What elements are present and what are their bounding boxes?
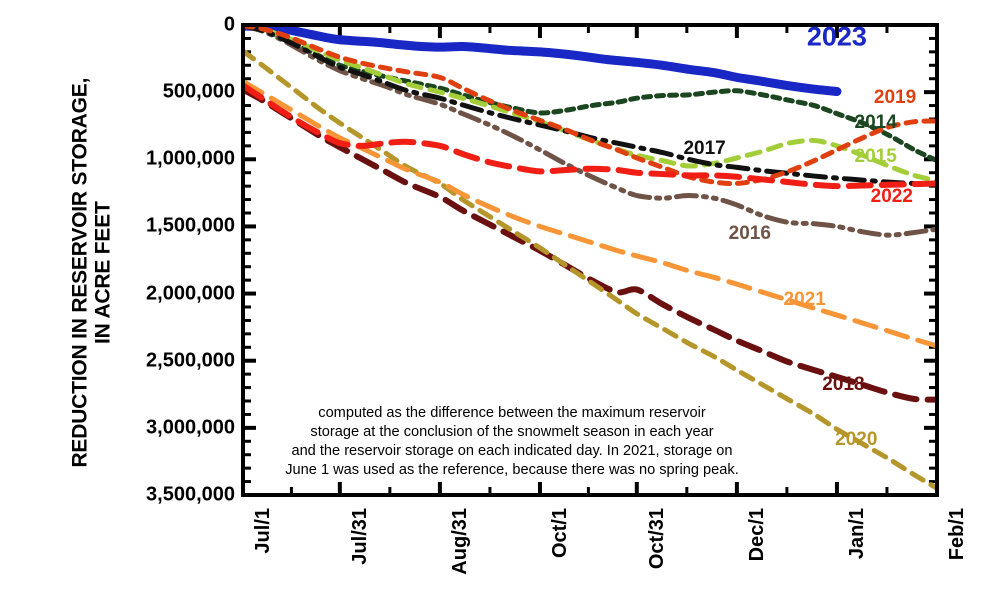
annotation-line: storage at the conclusion of the snowmel…	[262, 423, 762, 442]
chart-annotation: computed as the difference between the m…	[262, 404, 762, 480]
x-tick-label: Oct/31	[646, 508, 669, 569]
series-label-2019: 2019	[874, 87, 916, 109]
x-tick-label: Dec/1	[746, 508, 769, 561]
annotation-line: June 1 was used as the reference, becaus…	[262, 461, 762, 480]
x-axis-tick-labels: Jul/1Jul/31Aug/31Oct/1Oct/31Dec/1Jan/1Fe…	[0, 508, 985, 600]
series-label-2016: 2016	[729, 223, 771, 245]
series-label-2020: 2020	[835, 429, 877, 451]
x-tick-label: Aug/31	[449, 508, 472, 575]
x-tick-label: Jan/1	[846, 508, 869, 559]
series-label-2018: 2018	[822, 374, 864, 396]
series-label-2015: 2015	[855, 146, 897, 168]
series-line-2021	[243, 81, 937, 346]
series-label-2017: 2017	[683, 138, 725, 160]
x-tick-label: Feb/1	[946, 508, 969, 560]
annotation-line: and the reservoir storage on each indica…	[262, 442, 762, 461]
x-tick-label: Oct/1	[549, 508, 572, 558]
series-label-2014: 2014	[855, 112, 897, 134]
x-tick-label: Jul/1	[252, 508, 275, 554]
x-tick-label: Jul/31	[349, 508, 372, 565]
series-label-2021: 2021	[784, 289, 826, 311]
annotation-line: computed as the difference between the m…	[262, 404, 762, 423]
chart-figure: REDUCTION IN RESERVOIR STORAGE, IN ACRE …	[0, 0, 985, 600]
series-label-2022: 2022	[871, 186, 913, 208]
series-label-2023: 2023	[807, 22, 867, 53]
